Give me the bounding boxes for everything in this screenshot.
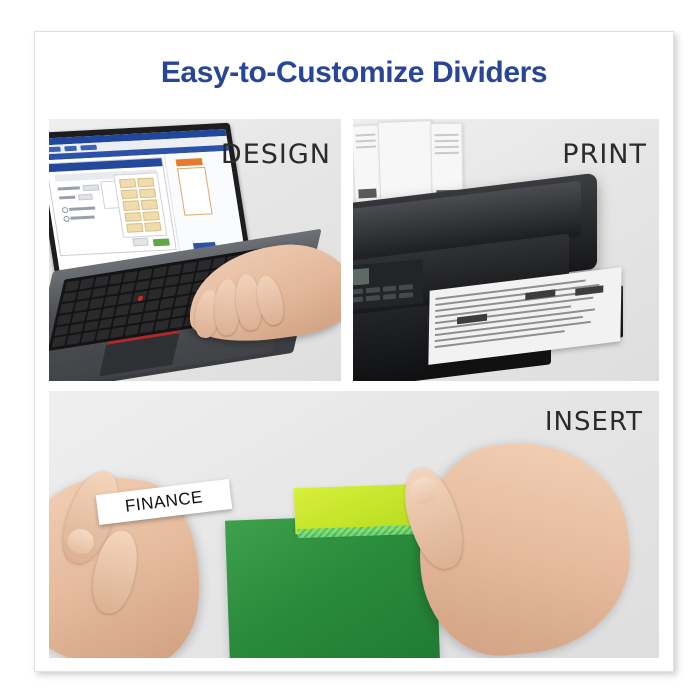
form-input[interactable] [78, 194, 93, 201]
confirm-button[interactable] [153, 238, 170, 246]
panel-label-insert: INSERT [545, 407, 643, 437]
product-image-canvas: Easy-to-Customize Dividers [0, 0, 700, 700]
page-title: Easy-to-Customize Dividers [35, 56, 673, 90]
design-dialog [49, 157, 177, 256]
template-cell [119, 179, 137, 189]
form-label [58, 186, 81, 190]
printer-lcd-display [353, 268, 369, 287]
form-input[interactable] [82, 184, 99, 191]
printer-control-panel[interactable] [353, 259, 423, 311]
thumbnail [407, 474, 442, 507]
template-cell [142, 211, 160, 221]
radio-option[interactable] [62, 207, 69, 213]
toolbar-chip [80, 145, 97, 151]
cancel-button[interactable] [132, 238, 148, 247]
panel-design: DESIGN [49, 119, 341, 381]
template-cell [124, 212, 142, 222]
thumbnail [65, 525, 98, 556]
document-outline [177, 167, 213, 216]
panel-insert: FINANCE INSERT [49, 391, 659, 658]
printer-button-cluster[interactable] [353, 284, 413, 304]
template-grid [119, 178, 162, 233]
template-cell [121, 190, 139, 200]
template-cell [126, 223, 144, 233]
template-cell [141, 200, 159, 210]
highlight-tab [176, 158, 203, 166]
radio-label [70, 216, 95, 220]
template-cell [137, 178, 155, 188]
product-card: Easy-to-Customize Dividers [34, 31, 674, 672]
template-preview [113, 172, 167, 238]
toolbar-chip [64, 146, 77, 152]
radio-option[interactable] [63, 216, 70, 222]
template-cell [144, 222, 162, 232]
panel-label-design: DESIGN [221, 139, 331, 170]
toolbar-chip [49, 147, 61, 153]
template-cell [139, 189, 157, 199]
panel-print: PRINT [353, 119, 659, 381]
panel-label-print: PRINT [562, 139, 647, 170]
radio-label [69, 207, 96, 211]
form-label [59, 196, 76, 200]
template-cell [123, 201, 141, 211]
